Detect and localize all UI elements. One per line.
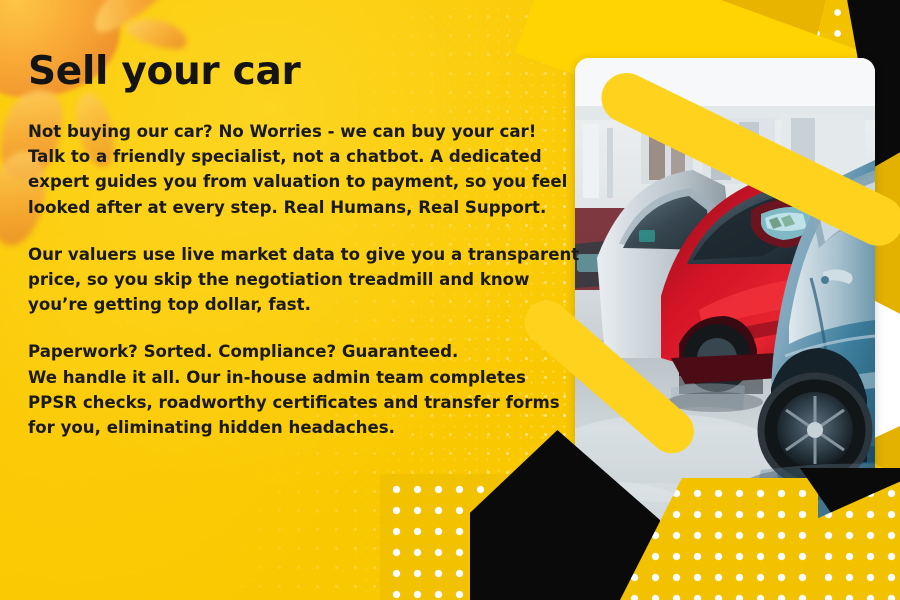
paragraph-line: PPSR checks, roadworthy certificates and… [28, 390, 568, 415]
paragraph-line: Not buying our car? No Worries - we can … [28, 119, 568, 144]
paragraph-line: Talk to a friendly specialist, not a cha… [28, 144, 568, 169]
paragraph-line: expert guides you from valuation to paym… [28, 169, 568, 194]
paragraph-line: Our valuers use live market data to give… [28, 242, 568, 267]
poster-canvas: Sell your car Not buying our car? No Wor… [0, 0, 900, 600]
page-title: Sell your car [28, 52, 568, 93]
paragraph-paperwork: Paperwork? Sorted. Compliance? Guarantee… [28, 339, 568, 440]
paragraph-line: price, so you skip the negotiation tread… [28, 267, 568, 292]
paragraph-line: looked after at every step. Real Humans,… [28, 195, 568, 220]
paragraph-line: Paperwork? Sorted. Compliance? Guarantee… [28, 339, 568, 364]
paragraph-support: Not buying our car? No Worries - we can … [28, 119, 568, 220]
paragraph-line: you’re getting top dollar, fast. [28, 292, 568, 317]
copy-block: Sell your car Not buying our car? No Wor… [28, 52, 568, 440]
paragraph-line: We handle it all. Our in-house admin tea… [28, 365, 568, 390]
paragraph-line: for you, eliminating hidden headaches. [28, 415, 568, 440]
paragraph-pricing: Our valuers use live market data to give… [28, 242, 568, 318]
